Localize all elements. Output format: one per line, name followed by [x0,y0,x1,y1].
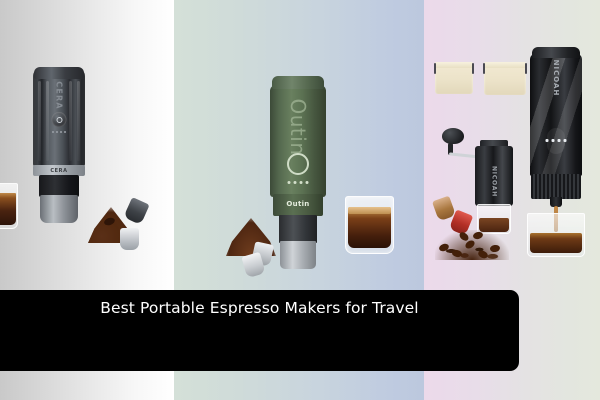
coffee-beans-pile [435,230,509,260]
machine-cap [34,67,84,79]
coffee-bean [477,249,489,260]
body-rib [46,81,49,161]
brand-label-outin-vertical: Outin [286,99,310,156]
espresso-machine-outin: Outin Outin [270,76,326,268]
body-rib [38,81,41,161]
brew-head [39,175,79,197]
espresso-liquid [530,233,582,253]
machine-body: Outin [270,85,326,197]
canvas-bag [484,62,526,95]
coffee-bean [472,231,483,240]
machine-cap [532,47,580,58]
machine-body: CERA [33,69,85,167]
machine-cup-base [40,195,78,223]
power-glyph-icon [56,117,62,123]
bag-cord [472,63,474,74]
promo-image: CERA CERA Outin Outin [0,0,600,400]
espresso-liquid [0,193,16,225]
bag-cord [434,63,436,74]
led-indicator-dots [52,131,66,133]
manual-coffee-grinder: NICOAH [475,130,513,234]
machine-body: NICOAH [530,54,582,176]
ribbed-grip [531,174,581,199]
brew-head [279,215,317,243]
canvas-bag [435,62,473,94]
machine-cup-base [280,241,316,269]
brand-label-cera: CERA [55,81,64,110]
bag-drawstring-top [435,62,473,68]
body-rib [69,81,72,161]
espresso-glass-right [527,213,585,257]
brand-wordmark-outin: Outin [286,200,309,208]
espresso-machine-nicoah: NICOAH [530,47,582,237]
grinder-body: NICOAH [475,146,513,206]
crema-layer [348,207,391,214]
body-rib [77,81,80,161]
led-indicator-dots [288,181,309,184]
caption-banner: Best Portable Espresso Makers for Travel [0,290,519,371]
circle-logo-icon [287,153,309,175]
coffee-bean [490,244,501,252]
collar-brand-label: CERA [50,168,67,174]
caption-title: Best Portable Espresso Makers for Travel [100,299,418,317]
bag-drawstring-top [484,62,526,68]
coffee-bean [451,249,462,258]
espresso-machine-cera: CERA CERA [33,69,85,204]
led-indicator-dots [546,139,567,142]
machine-cap [272,76,324,89]
bag-cord [483,63,485,74]
coffee-bean [438,243,450,253]
coffee-capsule-silver [120,228,139,250]
brand-label-nicoah: NICOAH [552,60,560,97]
brand-label-grinder: NICOAH [491,166,498,197]
coffee-capsule-dark [123,197,149,225]
bag-cord [525,63,527,74]
power-button-icon [52,112,67,127]
espresso-glass-middle [345,196,394,254]
grinder-crank-knob [442,128,464,144]
espresso-glass-left [0,183,18,229]
